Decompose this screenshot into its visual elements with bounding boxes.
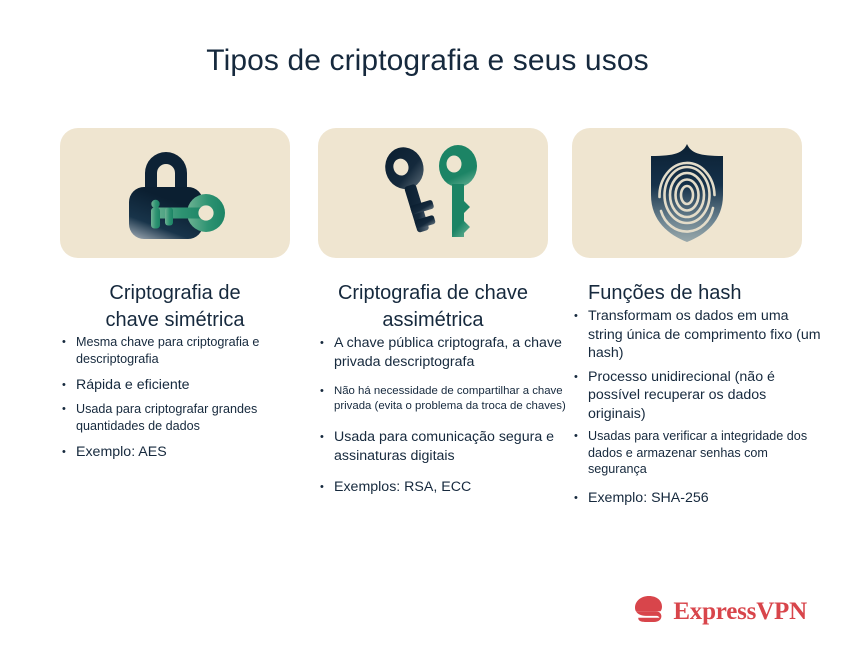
list-item: Mesma chave para criptografia e descript…: [60, 334, 298, 367]
column-hash-functions: Funções de hash Transformam os dados em …: [572, 128, 802, 512]
column-heading-hash: Funções de hash: [572, 280, 802, 307]
list-item: Rápida e eficiente: [60, 376, 298, 394]
list-item: A chave pública criptografa, a chave pri…: [318, 334, 566, 371]
expressvpn-wordmark: ExpressVPN: [673, 598, 807, 626]
bullet-list-asymmetric: A chave pública criptografa, a chave pri…: [318, 334, 566, 497]
heading-line-1: Funções de hash: [588, 280, 802, 307]
heading-line-1: Criptografia de: [60, 280, 290, 307]
list-item: Usada para criptografar grandes quantida…: [60, 401, 298, 434]
list-item: Usada para comunicação segura e assinatu…: [318, 428, 566, 465]
padlock-with-key-icon: [115, 145, 235, 241]
icon-card-hash: [572, 128, 802, 258]
shield-fingerprint-icon: [639, 141, 735, 245]
icon-card-asymmetric: [318, 128, 548, 258]
heading-line-2: chave simétrica: [60, 307, 290, 334]
list-item: Usadas para verificar a integridade dos …: [572, 428, 824, 478]
list-item: Transformam os dados em uma string única…: [572, 307, 824, 363]
column-asymmetric-encryption: Criptografia de chave assimétrica A chav…: [318, 128, 548, 510]
column-heading-asymmetric: Criptografia de chave assimétrica: [318, 280, 548, 334]
list-item: Não há necessidade de compartilhar a cha…: [318, 384, 566, 414]
list-item: Processo unidirecional (não é possível r…: [572, 368, 824, 424]
icon-card-symmetric: [60, 128, 290, 258]
bullet-list-symmetric: Mesma chave para criptografia e descript…: [60, 334, 298, 461]
expressvpn-logo: ExpressVPN: [632, 594, 807, 629]
list-item: Exemplo: SHA-256: [572, 489, 824, 508]
heading-line-2: assimétrica: [324, 307, 542, 334]
column-heading-symmetric: Criptografia de chave simétrica: [60, 280, 290, 334]
infographic-page: Tipos de criptografia e seus usos: [0, 0, 855, 657]
column-symmetric-encryption: Criptografia de chave simétrica Mesma ch…: [60, 128, 290, 468]
heading-line-1: Criptografia de chave: [324, 280, 542, 307]
page-title: Tipos de criptografia e seus usos: [0, 44, 855, 78]
two-keys-icon: [378, 143, 488, 243]
list-item: Exemplo: AES: [60, 443, 298, 461]
bullet-list-hash: Transformam os dados em uma string única…: [572, 307, 824, 507]
expressvpn-e-mark-icon: [632, 594, 664, 629]
list-item: Exemplos: RSA, ECC: [318, 478, 566, 497]
